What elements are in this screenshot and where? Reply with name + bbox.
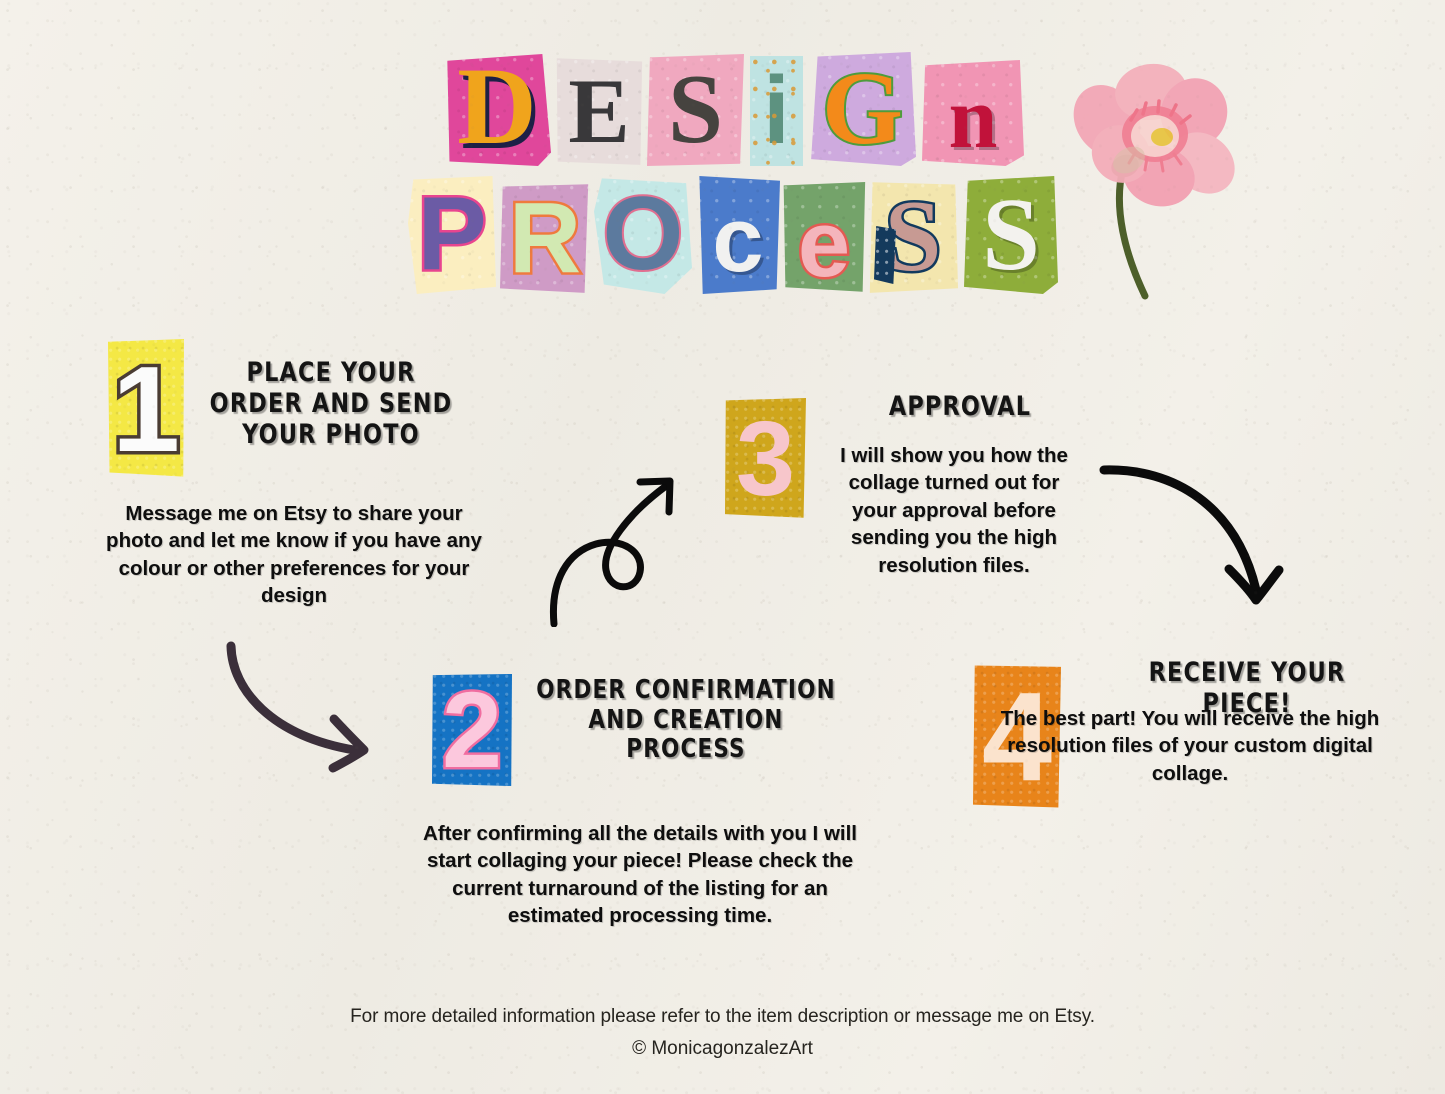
ransom-letter-d: D [443, 54, 551, 166]
flower-icon [1063, 58, 1258, 306]
ransom-letter-r: R [500, 182, 590, 294]
arrow-step3-to-step4-icon [1086, 434, 1311, 619]
poster-canvas: D E S i G n P R O c e S S [0, 0, 1445, 1094]
ransom-letter-s2: S [868, 180, 958, 294]
title-design: D E S i G n [443, 52, 1024, 166]
ransom-letter-i: i [750, 56, 803, 166]
arrow-step2-to-step3-icon [524, 452, 704, 627]
step-3-body: I will show you how the collage turned o… [832, 442, 1076, 579]
ransom-letter-s3: S [964, 176, 1058, 294]
title-process: P R O c e S S [408, 176, 1058, 294]
step-3-heading: APPROVAL [850, 392, 1071, 423]
step-1-body: Message me on Etsy to share your photo a… [105, 500, 483, 610]
ransom-letter-s: S [647, 54, 744, 166]
step-1-heading: PLACE YOUR ORDER AND SEND YOUR PHOTO [198, 358, 465, 450]
footer-info-text: For more detailed information please ref… [0, 1006, 1445, 1028]
step-4-body: The best part! You will receive the high… [970, 705, 1410, 787]
ransom-letter-e2: e [782, 182, 866, 294]
ransom-letter-p: P [408, 176, 496, 294]
ransom-letter-o: O [594, 176, 692, 294]
ransom-letter-e: E [555, 56, 643, 166]
ransom-letter-c: c [696, 176, 780, 294]
footer: For more detailed information please ref… [0, 1006, 1445, 1060]
ransom-letter-g: G [809, 52, 916, 166]
step-2-number-badge: 2 [432, 674, 512, 786]
arrow-step1-to-step2-icon [196, 624, 396, 784]
step-3-number: 3 [736, 406, 795, 512]
step-2-heading: ORDER CONFIRMATION AND CREATION PROCESS [533, 676, 838, 765]
ransom-letter-n: n [922, 60, 1024, 166]
step-3-number-badge: 3 [725, 398, 806, 519]
footer-copyright: © MonicagonzalezArt [0, 1038, 1445, 1060]
step-2-number: 2 [442, 676, 502, 784]
step-1-number-badge: 1 [108, 339, 184, 478]
step-2-body: After confirming all the details with yo… [410, 820, 870, 930]
step-1-number: 1 [112, 348, 180, 470]
